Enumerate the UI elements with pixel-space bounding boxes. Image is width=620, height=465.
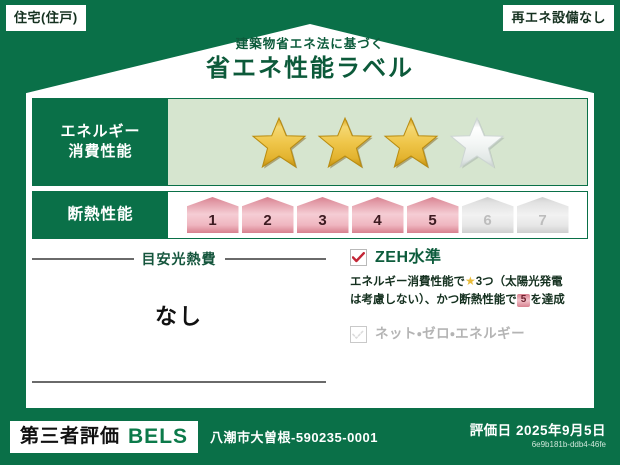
insulation-badge-value: 1 (208, 212, 216, 233)
zeh-checkbox[interactable] (350, 249, 367, 266)
label-title: 省エネ性能ラベル (0, 57, 620, 81)
net-zero-energy-row: ネット・ゼロ・エネルギー (350, 326, 588, 343)
insulation-performance-row: 断熱性能 1234567 (32, 191, 588, 239)
insulation-badge: 7 (517, 197, 569, 233)
lower-panels: 目安光熱費 なし ZEH水準 エネルギー消費性能で★3つ（太陽光発電 (32, 249, 588, 401)
insulation-badge-value: 4 (373, 212, 381, 233)
zeh-desc-line1-pre: エネルギー消費性能で (350, 276, 465, 288)
energy-performance-value (168, 99, 587, 185)
rule-right (225, 258, 327, 260)
evaluation-date: 評価日 2025年9月5日 (470, 424, 606, 439)
star-filled-icon (317, 116, 373, 169)
insulation-badge: 3 (297, 197, 349, 233)
star-filled-icon (251, 116, 307, 169)
zeh-description: エネルギー消費性能で★3つ（太陽光発電 は考慮しない）、かつ断熱性能で5を達成 (350, 272, 588, 310)
star-empty-icon (449, 116, 505, 169)
insulation-badge: 5 (407, 197, 459, 233)
insulation-performance-value: 1234567 (168, 192, 587, 238)
utility-cost-bottom-rule (32, 381, 326, 383)
star-rating (251, 116, 505, 169)
bels-logo-box: 第三者評価 BELS (10, 421, 198, 453)
bottom-bar: 第三者評価 BELS 八潮市大曽根-590235-0001 評価日 2025年9… (0, 408, 620, 465)
insulation-badge: 2 (242, 197, 294, 233)
net-zero-energy-title: ネット・ゼロ・エネルギー (375, 327, 525, 341)
insulation-grade-badges: 1234567 (187, 197, 569, 233)
third-party-eval-text: 第三者評価 (20, 427, 120, 446)
standards-panel: ZEH水準 エネルギー消費性能で★3つ（太陽光発電 は考慮しない）、かつ断熱性能… (332, 249, 588, 401)
insulation-badge-value: 3 (318, 212, 326, 233)
rule-left (32, 258, 134, 260)
insulation-badge-value: 7 (538, 212, 546, 233)
energy-performance-row: エネルギー 消費性能 (32, 98, 588, 186)
zeh-standard-row: ZEH水準 (350, 249, 588, 266)
bels-wordmark: BELS (128, 426, 188, 447)
renewable-energy-tag: 再エネ設備なし (502, 4, 615, 32)
zeh-title: ZEH水準 (375, 250, 442, 266)
zeh-desc-line2-pre: は考慮しない）、かつ断熱性能で (350, 294, 517, 306)
inline-grade-badge: 5 (517, 294, 531, 307)
property-address: 八潮市大曽根-590235-0001 (210, 427, 378, 446)
insulation-badge: 6 (462, 197, 514, 233)
utility-cost-heading: 目安光熱費 (32, 249, 326, 269)
label-title-block: 建築物省エネ法に基づく 省エネ性能ラベル (0, 38, 620, 81)
star-filled-icon (383, 116, 439, 169)
energy-label-line2: 消費性能 (68, 142, 132, 162)
utility-cost-panel: 目安光熱費 なし (32, 249, 332, 401)
label-content: エネルギー 消費性能 断熱性能 1234567 目安光熱費 なし (32, 98, 588, 401)
insulation-badge-value: 2 (263, 212, 271, 233)
evaluation-id: 6e9b181b-ddb4-46fe (470, 440, 606, 449)
evaluation-info: 評価日 2025年9月5日 6e9b181b-ddb4-46fe (470, 424, 610, 450)
insulation-badge: 4 (352, 197, 404, 233)
utility-cost-title: 目安光熱費 (142, 249, 217, 269)
label-subtitle: 建築物省エネ法に基づく (0, 38, 620, 51)
energy-performance-label: エネルギー 消費性能 (33, 99, 168, 185)
net-zero-energy-checkbox[interactable] (350, 326, 367, 343)
zeh-desc-line2-post: を達成 (530, 294, 565, 306)
insulation-performance-label: 断熱性能 (33, 192, 168, 238)
insulation-badge-value: 5 (428, 212, 436, 233)
insulation-badge-value: 6 (483, 212, 491, 233)
insulation-badge: 1 (187, 197, 239, 233)
energy-label-line1: エネルギー (60, 122, 140, 142)
energy-performance-label: 住宅(住戸) 再エネ設備なし 建築物省エネ法に基づく 省エネ性能ラベル エネルギ… (0, 0, 620, 465)
utility-cost-value: なし (32, 299, 326, 331)
inline-star-icon: ★ (465, 274, 476, 288)
zeh-desc-line1-post: 3つ（太陽光発電 (476, 276, 563, 288)
building-type-tag: 住宅(住戸) (5, 4, 87, 32)
